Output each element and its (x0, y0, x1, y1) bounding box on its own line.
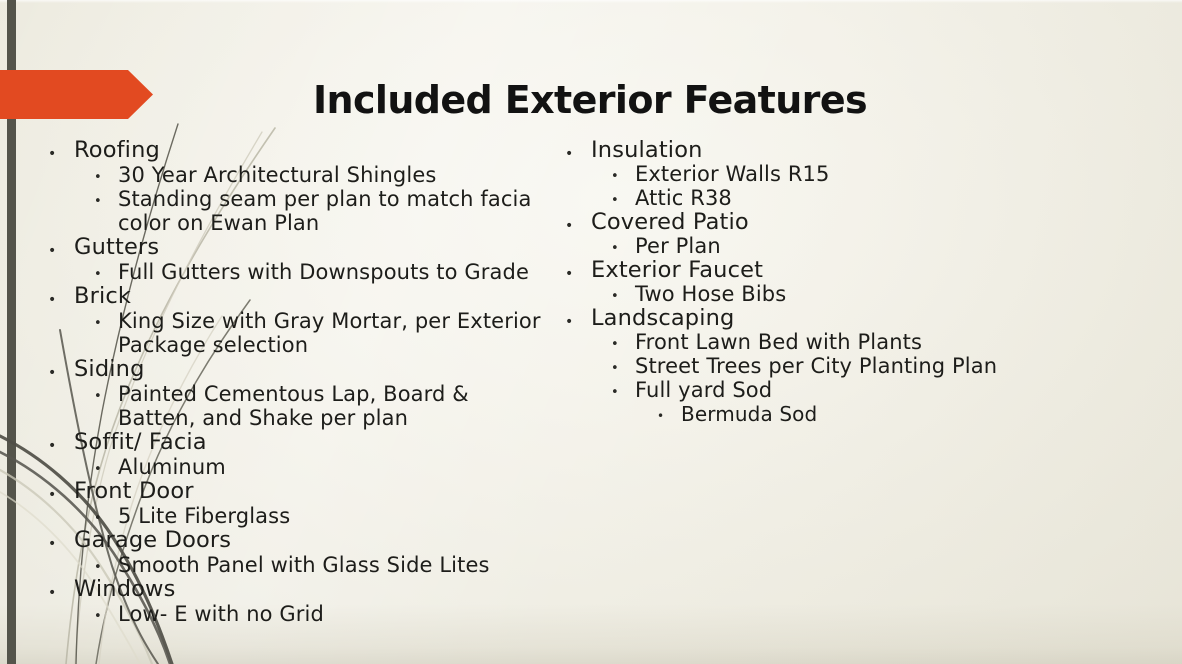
slide-title: Included Exterior Features (260, 78, 920, 122)
bullet-dot-icon: • (48, 479, 74, 502)
bullet-item-label: Low- E with no Grid (118, 602, 553, 626)
bullet-item-level-2: •Attic R38 (611, 186, 1085, 210)
bullet-item-level-2: •Street Trees per City Planting Plan (611, 354, 1085, 378)
bullet-item-level-2: •King Size with Gray Mortar, per Exterio… (94, 309, 553, 357)
bullet-item-label: Landscaping (591, 306, 1085, 330)
bullet-dot-icon: • (657, 402, 681, 422)
bullet-item-level-1: •Roofing (48, 138, 553, 163)
bullet-dot-icon: • (611, 354, 635, 375)
bullet-dot-icon: • (94, 309, 118, 330)
bullet-dot-icon: • (611, 186, 635, 207)
bullet-item-label: Full yard Sod (635, 378, 1085, 402)
bullet-item-label: Street Trees per City Planting Plan (635, 354, 1085, 378)
bullet-item-label: Per Plan (635, 234, 1085, 258)
bullet-item-level-2: •Standing seam per plan to match facia c… (94, 187, 553, 235)
bullet-dot-icon: • (611, 162, 635, 183)
bullet-item-level-2: •Low- E with no Grid (94, 602, 553, 626)
bullet-dot-icon: • (611, 282, 635, 303)
bullet-item-level-1: •Siding (48, 357, 553, 382)
bullet-item-label: Standing seam per plan to match facia co… (118, 187, 553, 235)
bullet-dot-icon: • (94, 382, 118, 403)
bullet-item-label: Bermuda Sod (681, 402, 1085, 426)
bullet-item-label: King Size with Gray Mortar, per Exterior… (118, 309, 553, 357)
bullet-item-level-2: •Two Hose Bibs (611, 282, 1085, 306)
bullet-dot-icon: • (94, 553, 118, 574)
bullet-item-label: Smooth Panel with Glass Side Lites (118, 553, 553, 577)
bullet-dot-icon: • (611, 378, 635, 399)
bullet-dot-icon: • (611, 330, 635, 351)
bullet-item-label: Garage Doors (74, 528, 553, 553)
bullet-dot-icon: • (611, 234, 635, 255)
bullet-item-level-2: •Full yard Sod (611, 378, 1085, 402)
bullet-item-level-2: •Painted Cementous Lap, Board & Batten, … (94, 382, 553, 430)
bullet-item-level-3: •Bermuda Sod (657, 402, 1085, 426)
bullet-item-label: Front Lawn Bed with Plants (635, 330, 1085, 354)
bullet-item-level-2: •Per Plan (611, 234, 1085, 258)
bullet-dot-icon: • (48, 357, 74, 380)
bullet-item-label: Windows (74, 577, 553, 602)
bullet-dot-icon: • (48, 430, 74, 453)
bullet-dot-icon: • (94, 455, 118, 476)
bullet-item-label: Attic R38 (635, 186, 1085, 210)
bullet-item-level-1: •Garage Doors (48, 528, 553, 553)
bullet-item-label: Covered Patio (591, 210, 1085, 234)
bullet-item-level-1: •Covered Patio (565, 210, 1085, 234)
bullet-item-level-2: •Exterior Walls R15 (611, 162, 1085, 186)
bullet-column-right: •Insulation•Exterior Walls R15•Attic R38… (565, 138, 1085, 426)
bullet-item-label: 5 Lite Fiberglass (118, 504, 553, 528)
bullet-dot-icon: • (94, 504, 118, 525)
bullet-dot-icon: • (565, 138, 591, 161)
bullet-dot-icon: • (94, 163, 118, 184)
bullet-item-label: Roofing (74, 138, 553, 163)
bullet-dot-icon: • (565, 258, 591, 281)
left-accent-bar (7, 0, 16, 664)
bullet-item-label: Front Door (74, 479, 553, 504)
bullet-item-level-1: •Exterior Faucet (565, 258, 1085, 282)
bullet-item-level-1: •Insulation (565, 138, 1085, 162)
bullet-dot-icon: • (48, 138, 74, 161)
bullet-item-level-2: •Front Lawn Bed with Plants (611, 330, 1085, 354)
presentation-slide: Included Exterior Features •Roofing•30 Y… (0, 0, 1182, 664)
bullet-item-label: 30 Year Architectural Shingles (118, 163, 553, 187)
bullet-item-label: Full Gutters with Downspouts to Grade (118, 260, 553, 284)
bullet-item-level-1: •Soffit/ Facia (48, 430, 553, 455)
bullet-item-label: Insulation (591, 138, 1085, 162)
bullet-dot-icon: • (48, 528, 74, 551)
bullet-item-label: Two Hose Bibs (635, 282, 1085, 306)
bullet-dot-icon: • (94, 187, 118, 208)
bullet-item-level-2: •5 Lite Fiberglass (94, 504, 553, 528)
bullet-dot-icon: • (48, 235, 74, 258)
bullet-item-label: Siding (74, 357, 553, 382)
bullet-dot-icon: • (48, 284, 74, 307)
bullet-item-label: Gutters (74, 235, 553, 260)
bullet-item-level-1: •Gutters (48, 235, 553, 260)
bullet-item-label: Brick (74, 284, 553, 309)
bullet-item-level-1: •Landscaping (565, 306, 1085, 330)
bullet-item-label: Painted Cementous Lap, Board & Batten, a… (118, 382, 553, 430)
bullet-item-level-2: •Full Gutters with Downspouts to Grade (94, 260, 553, 284)
bullet-dot-icon: • (565, 210, 591, 233)
bullet-dot-icon: • (94, 602, 118, 623)
bullet-item-level-2: •Aluminum (94, 455, 553, 479)
bullet-dot-icon: • (48, 577, 74, 600)
bullet-item-level-2: •30 Year Architectural Shingles (94, 163, 553, 187)
bullet-item-level-1: •Front Door (48, 479, 553, 504)
bullet-column-left: •Roofing•30 Year Architectural Shingles•… (48, 138, 553, 626)
bullet-item-label: Exterior Walls R15 (635, 162, 1085, 186)
bullet-item-label: Soffit/ Facia (74, 430, 553, 455)
bullet-item-label: Exterior Faucet (591, 258, 1085, 282)
bullet-dot-icon: • (565, 306, 591, 329)
bullet-item-level-2: •Smooth Panel with Glass Side Lites (94, 553, 553, 577)
bullet-item-level-1: •Windows (48, 577, 553, 602)
bullet-item-level-1: •Brick (48, 284, 553, 309)
bullet-item-label: Aluminum (118, 455, 553, 479)
bullet-dot-icon: • (94, 260, 118, 281)
